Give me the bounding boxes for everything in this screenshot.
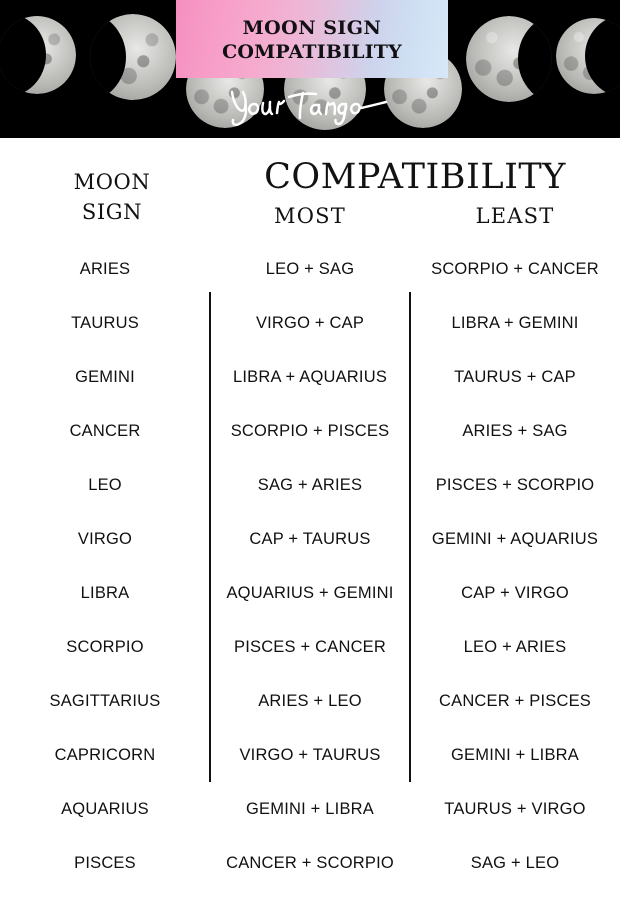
cell-most: VIRGO + CAP <box>210 314 410 333</box>
cell-least: SAG + LEO <box>410 854 620 873</box>
table-row: CANCER SCORPIO + PISCES ARIES + SAG <box>0 404 620 458</box>
table-row: AQUARIUS GEMINI + LIBRA TAURUS + VIRGO <box>0 782 620 836</box>
cell-least: LIBRA + GEMINI <box>410 314 620 333</box>
cell-most: VIRGO + TAURUS <box>210 746 410 765</box>
cell-least: GEMINI + LIBRA <box>410 746 620 765</box>
moon-sign-compatibility-infographic: MOON SIGN COMPATIBILITY <box>0 0 620 900</box>
cell-least: TAURUS + VIRGO <box>410 800 620 819</box>
table-body: ARIES LEO + SAG SCORPIO + CANCER TAURUS … <box>0 242 620 890</box>
table-row: LIBRA AQUARIUS + GEMINI CAP + VIRGO <box>0 566 620 620</box>
cell-most: LEO + SAG <box>210 260 410 279</box>
table-row: VIRGO CAP + TAURUS GEMINI + AQUARIUS <box>0 512 620 566</box>
cell-least: TAURUS + CAP <box>410 368 620 387</box>
banner-title-line-1: MOON SIGN <box>243 16 382 40</box>
moon-first-quarter-icon <box>90 14 176 100</box>
moon-sign-header-line-1: MOON <box>14 168 210 198</box>
cell-least: SCORPIO + CANCER <box>410 260 620 279</box>
cell-most: PISCES + CANCER <box>210 638 410 657</box>
moon-sign-header-line-2: SIGN <box>14 198 210 228</box>
table-row: CAPRICORN VIRGO + TAURUS GEMINI + LIBRA <box>0 728 620 782</box>
cell-moon-sign: LIBRA <box>0 584 210 603</box>
cell-least: CAP + VIRGO <box>410 584 620 603</box>
table-row: SCORPIO PISCES + CANCER LEO + ARIES <box>0 620 620 674</box>
cell-least: GEMINI + AQUARIUS <box>410 530 620 549</box>
cell-moon-sign: ARIES <box>0 260 210 279</box>
header-banner: MOON SIGN COMPATIBILITY <box>0 0 620 138</box>
cell-least: LEO + ARIES <box>410 638 620 657</box>
table-row: PISCES CANCER + SCORPIO SAG + LEO <box>0 836 620 890</box>
cell-least: PISCES + SCORPIO <box>410 476 620 495</box>
cell-most: AQUARIUS + GEMINI <box>210 584 410 603</box>
moon-sign-column-header: MOON SIGN <box>14 168 210 228</box>
cell-most: CAP + TAURUS <box>210 530 410 549</box>
cell-most: SAG + ARIES <box>210 476 410 495</box>
cell-most: ARIES + LEO <box>210 692 410 711</box>
title-banner: MOON SIGN COMPATIBILITY <box>176 0 448 78</box>
cell-moon-sign: AQUARIUS <box>0 800 210 819</box>
least-column-header: LEAST <box>410 204 620 228</box>
cell-moon-sign: CANCER <box>0 422 210 441</box>
cell-least: CANCER + PISCES <box>410 692 620 711</box>
moon-waning-gibbous-icon <box>466 16 552 102</box>
table-row: LEO SAG + ARIES PISCES + SCORPIO <box>0 458 620 512</box>
table-row: GEMINI LIBRA + AQUARIUS TAURUS + CAP <box>0 350 620 404</box>
cell-most: GEMINI + LIBRA <box>210 800 410 819</box>
cell-moon-sign: PISCES <box>0 854 210 873</box>
cell-moon-sign: LEO <box>0 476 210 495</box>
cell-most: LIBRA + AQUARIUS <box>210 368 410 387</box>
cell-most: SCORPIO + PISCES <box>210 422 410 441</box>
table-row: SAGITTARIUS ARIES + LEO CANCER + PISCES <box>0 674 620 728</box>
moon-waning-crescent-icon <box>556 18 620 94</box>
yourtango-logo[interactable] <box>228 82 393 128</box>
compatibility-table: COMPATIBILITY MOON SIGN MOST LEAST ARIES… <box>0 138 620 900</box>
banner-title-line-2: COMPATIBILITY <box>222 40 402 64</box>
most-column-header: MOST <box>210 204 410 228</box>
table-row: ARIES LEO + SAG SCORPIO + CANCER <box>0 242 620 296</box>
cell-moon-sign: SAGITTARIUS <box>0 692 210 711</box>
cell-moon-sign: GEMINI <box>0 368 210 387</box>
table-row: TAURUS VIRGO + CAP LIBRA + GEMINI <box>0 296 620 350</box>
table-title: COMPATIBILITY <box>210 160 620 195</box>
cell-moon-sign: CAPRICORN <box>0 746 210 765</box>
cell-moon-sign: VIRGO <box>0 530 210 549</box>
cell-moon-sign: TAURUS <box>0 314 210 333</box>
cell-moon-sign: SCORPIO <box>0 638 210 657</box>
moon-waxing-crescent-icon <box>0 16 76 94</box>
cell-least: ARIES + SAG <box>410 422 620 441</box>
cell-most: CANCER + SCORPIO <box>210 854 410 873</box>
